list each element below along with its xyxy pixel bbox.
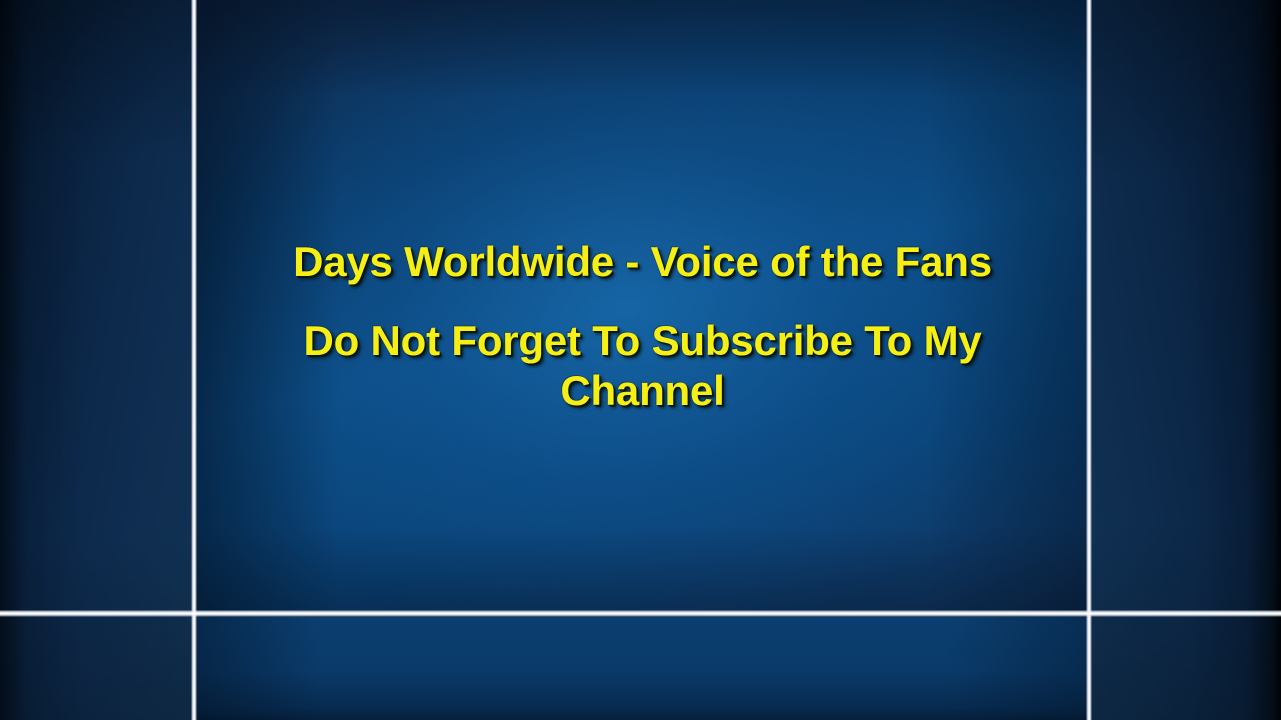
main-stage-pane xyxy=(197,0,1088,611)
bottom-background-pane xyxy=(197,617,1088,720)
video-frame: Days Worldwide - Voice of the Fans Do No… xyxy=(0,0,1281,720)
divider-horizontal-bottom xyxy=(0,610,1281,617)
